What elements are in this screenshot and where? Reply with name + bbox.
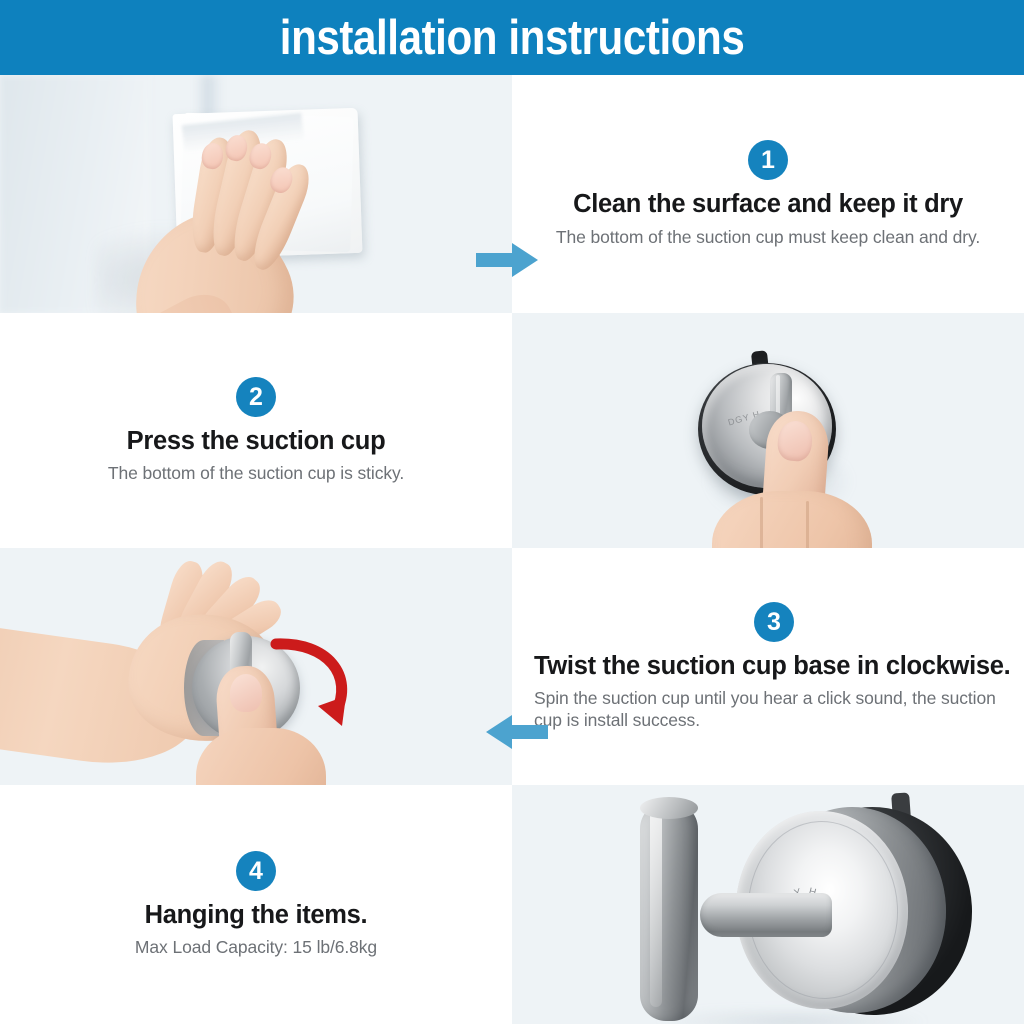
step-3-text: 3 Twist the suction cup base in clockwis… xyxy=(512,548,1024,785)
step-badge-4: 4 xyxy=(236,851,276,891)
hook-bar-cap xyxy=(640,797,698,819)
step-2-heading: Press the suction cup xyxy=(21,426,491,457)
step-4-heading: Hanging the items. xyxy=(21,900,491,931)
step-2-subtext: The bottom of the suction cup is sticky. xyxy=(21,462,491,484)
header-banner: installation instructions xyxy=(0,0,1024,75)
step-1-photo xyxy=(0,75,512,313)
arrow-left-icon-2 xyxy=(486,715,548,749)
finger-crease-2 xyxy=(806,501,809,548)
step-1-text: 1 Clean the surface and keep it dry The … xyxy=(512,75,1024,313)
step-badge-3: 3 xyxy=(754,602,794,642)
step-3-heading: Twist the suction cup base in clockwise. xyxy=(534,651,1014,682)
hook-bar xyxy=(640,801,698,1021)
step-row-1: 1 Clean the surface and keep it dry The … xyxy=(0,75,1024,313)
step-row-3: 3 Twist the suction cup base in clockwis… xyxy=(0,548,1024,785)
step-4-photo: DGY H DGI8 xyxy=(512,785,1024,1024)
step-1-subtext: The bottom of the suction cup must keep … xyxy=(533,226,1003,248)
step-1-heading: Clean the surface and keep it dry xyxy=(533,189,1003,220)
step-4-subtext: Max Load Capacity: 15 lb/6.8kg xyxy=(21,936,491,958)
step-badge-2: 2 xyxy=(236,377,276,417)
clockwise-rotation-arrow-icon xyxy=(258,630,368,740)
step-3-photo xyxy=(0,548,512,785)
hook-stem xyxy=(700,893,832,937)
finger-crease xyxy=(760,497,763,548)
step-3-subtext: Spin the suction cup until you hear a cl… xyxy=(534,687,1014,731)
wiping-hand xyxy=(120,125,330,313)
step-row-2: 2 Press the suction cup The bottom of th… xyxy=(0,313,1024,548)
step-2-text: 2 Press the suction cup The bottom of th… xyxy=(0,313,512,548)
arrow-right-icon-1 xyxy=(476,243,538,277)
step-row-4: 4 Hanging the items. Max Load Capacity: … xyxy=(0,785,1024,1024)
step-2-photo: DGY H xyxy=(512,313,1024,548)
step-4-text: 4 Hanging the items. Max Load Capacity: … xyxy=(0,785,512,1024)
installation-instructions-infographic: installation instructions xyxy=(0,0,1024,1024)
step-badge-1: 1 xyxy=(748,140,788,180)
page-title: installation instructions xyxy=(280,10,745,66)
